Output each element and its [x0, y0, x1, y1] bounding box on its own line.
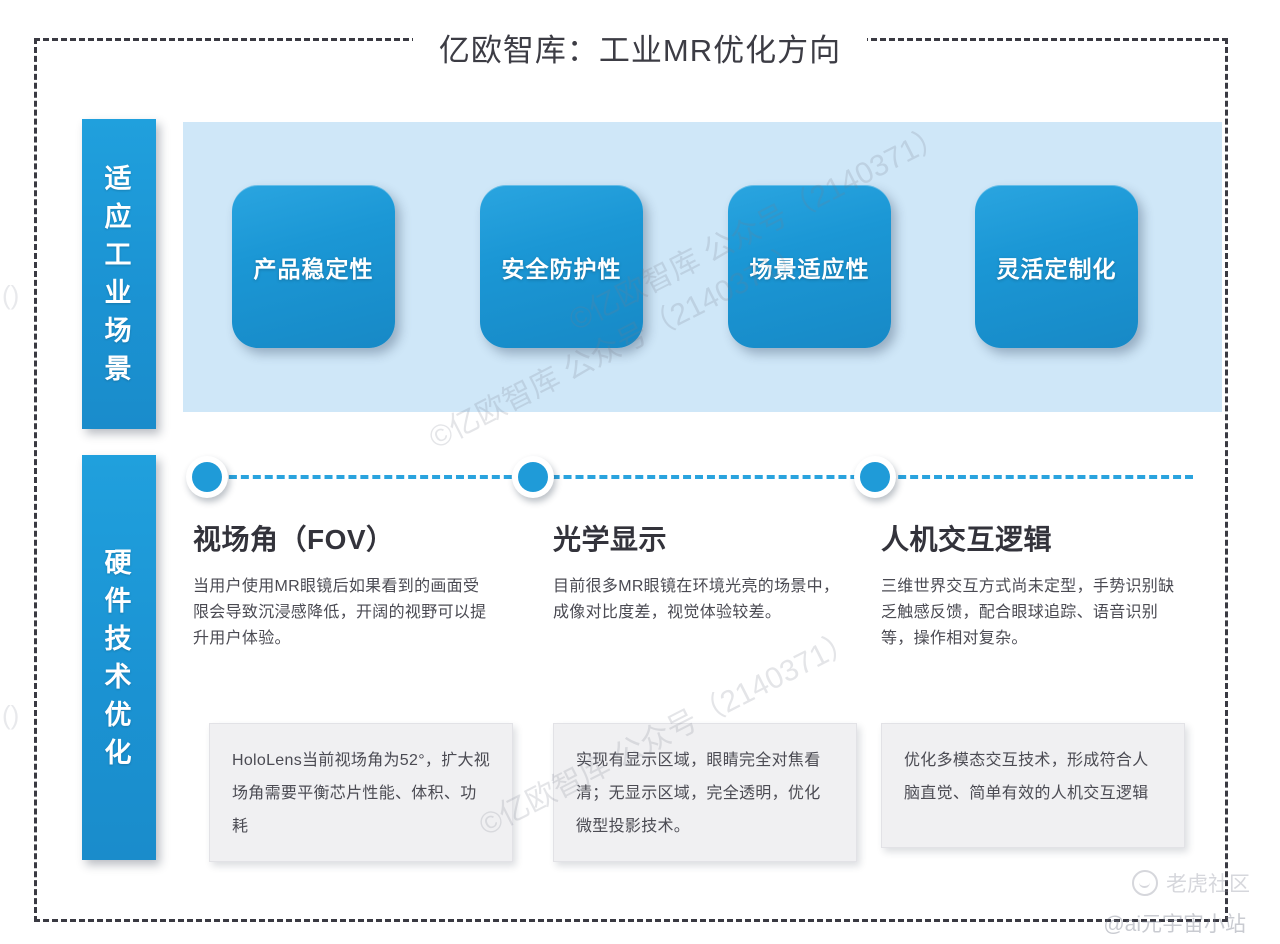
timeline-node-1 — [512, 456, 554, 498]
timeline-node-0 — [186, 456, 228, 498]
topic-body-1: 目前很多MR眼镜在环境光亮的场景中，成像对比度差，视觉体验较差。 — [553, 574, 849, 626]
section-rail-industrial-scenarios: 适应工业场景 — [82, 119, 156, 429]
feature-card-label-1: 安全防护性 — [502, 250, 622, 284]
timeline-dashed-connector — [205, 475, 1193, 479]
topic-column-optical-display: 光学显示 目前很多MR眼镜在环境光亮的场景中，成像对比度差，视觉体验较差。 — [553, 520, 863, 626]
page-title: 亿欧智库：工业MR优化方向 — [0, 28, 1280, 74]
watermark-tiger-community: 老虎社区 — [1132, 868, 1250, 898]
feature-card-label-3: 灵活定制化 — [997, 250, 1117, 284]
feature-card-label-0: 产品稳定性 — [254, 250, 374, 284]
callout-box-fov: HoloLens当前视场角为52°，扩大视场角需要平衡芯片性能、体积、功耗 — [209, 723, 513, 862]
page-title-text: 亿欧智库：工业MR优化方向 — [413, 28, 867, 74]
topic-column-fov: 视场角（FOV） 当用户使用MR眼镜后如果看到的画面受限会导致沉浸感降低，开阔的… — [193, 520, 503, 652]
watermark-tiger-label: 老虎社区 — [1166, 868, 1250, 898]
topic-body-2: 三维世界交互方式尚未定型，手势识别缺乏触感反馈，配合眼球追踪、语音识别等，操作相… — [881, 574, 1177, 652]
section-rail-label-0: 适应工业场景 — [104, 160, 134, 388]
section-rail-hardware-optimization: 硬件技术优化 — [82, 455, 156, 860]
topic-heading-0: 视场角（FOV） — [193, 520, 503, 560]
callout-box-hci-logic: 优化多模态交互技术，形成符合人脑直觉、简单有效的人机交互逻辑 — [881, 723, 1185, 848]
topic-column-hci-logic: 人机交互逻辑 三维世界交互方式尚未定型，手势识别缺乏触感反馈，配合眼球追踪、语音… — [881, 520, 1191, 652]
topic-body-0: 当用户使用MR眼镜后如果看到的画面受限会导致沉浸感降低，开阔的视野可以提升用户体… — [193, 574, 489, 652]
feature-card-product-stability[interactable]: 产品稳定性 — [232, 185, 395, 348]
tiger-logo-icon — [1132, 870, 1158, 896]
feature-card-label-2: 场景适应性 — [750, 250, 870, 284]
timeline-node-2 — [854, 456, 896, 498]
watermark-corner-0: () — [2, 280, 19, 311]
watermark-account-handle: @ai元宇宙小站 — [1103, 908, 1246, 938]
topic-heading-2: 人机交互逻辑 — [881, 520, 1191, 560]
topic-heading-1: 光学显示 — [553, 520, 863, 560]
feature-card-safety-protection[interactable]: 安全防护性 — [480, 185, 643, 348]
callout-box-optical-display: 实现有显示区域，眼睛完全对焦看清；无显示区域，完全透明，优化微型投影技术。 — [553, 723, 857, 862]
section-rail-label-1: 硬件技术优化 — [104, 544, 134, 772]
watermark-corner-1: () — [2, 700, 19, 731]
feature-card-flexible-customization[interactable]: 灵活定制化 — [975, 185, 1138, 348]
infographic-page: 亿欧智库：工业MR优化方向 适应工业场景 硬件技术优化 产品稳定性 安全防护性 … — [0, 0, 1280, 944]
feature-card-scene-adaptability[interactable]: 场景适应性 — [728, 185, 891, 348]
